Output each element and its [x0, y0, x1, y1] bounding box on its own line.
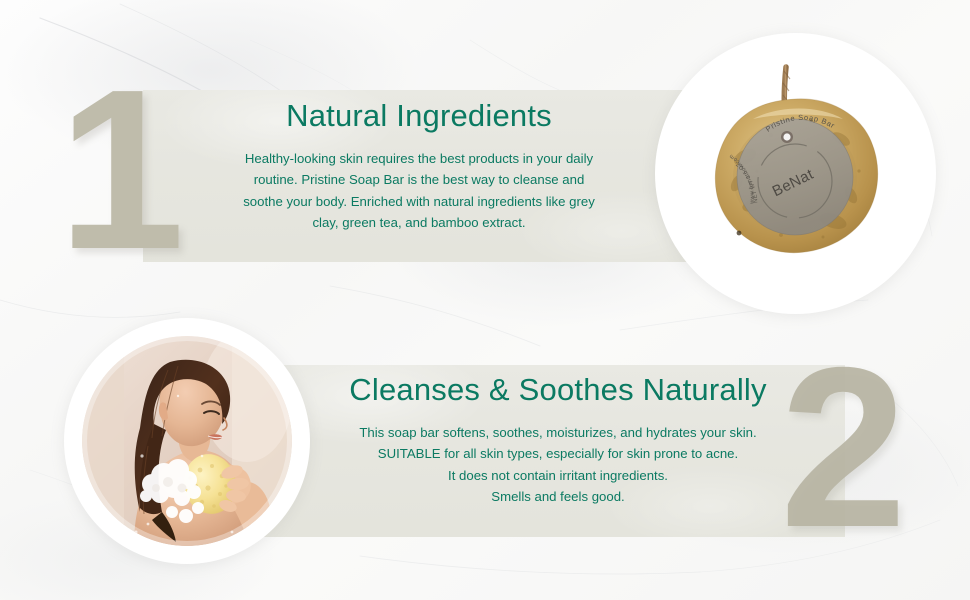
infographic-canvas: 1 Natural Ingredients Healthy-looking sk…	[0, 0, 970, 600]
section-1-body: Healthy-looking skin requires the best p…	[180, 148, 658, 234]
shower-woman-illustration	[82, 336, 292, 546]
body-line: SUITABLE for all skin types, especially …	[278, 443, 838, 464]
body-line: routine. Pristine Soap Bar is the best w…	[180, 169, 658, 190]
section-2-text: Cleanses & Soothes Naturally This soap b…	[278, 372, 838, 508]
body-line: Smells and feels good.	[278, 486, 838, 507]
soap-bar-photo: Pristine Soap Bar BeNat www.benatnow.com…	[683, 61, 908, 286]
step-number-1: 1	[58, 56, 180, 284]
body-line: soothe your body. Enriched with natural …	[180, 191, 658, 212]
body-line: This soap bar softens, soothes, moisturi…	[278, 422, 838, 443]
section-2-heading: Cleanses & Soothes Naturally	[278, 372, 838, 408]
soap-bar-illustration: Pristine Soap Bar BeNat www.benatnow.com…	[683, 61, 908, 286]
shower-photo	[82, 336, 292, 546]
section-1-heading: Natural Ingredients	[180, 98, 658, 134]
soap-bar-photo-frame: Pristine Soap Bar BeNat www.benatnow.com…	[655, 33, 936, 314]
body-line: It does not contain irritant ingredients…	[278, 465, 838, 486]
section-1-text: Natural Ingredients Healthy-looking skin…	[180, 98, 658, 234]
body-line: Healthy-looking skin requires the best p…	[180, 148, 658, 169]
body-line: clay, green tea, and bamboo extract.	[180, 212, 658, 233]
shower-photo-frame	[64, 318, 310, 564]
section-2-body: This soap bar softens, soothes, moisturi…	[278, 422, 838, 508]
